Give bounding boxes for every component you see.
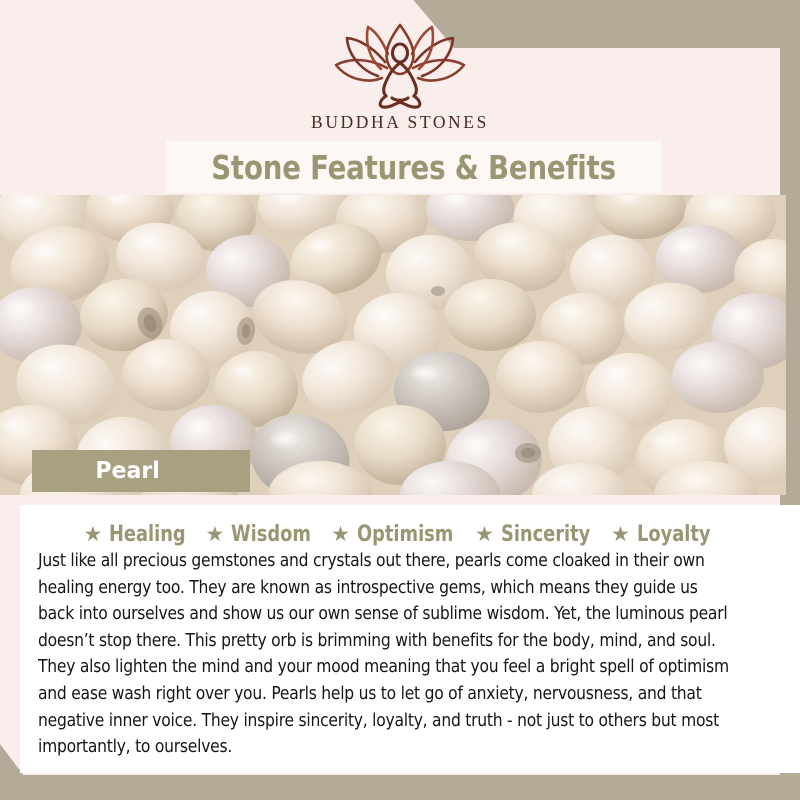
benefit-label: Loyalty — [637, 522, 710, 547]
benefit-label: Wisdom — [231, 522, 311, 547]
star-icon: ★ — [206, 524, 225, 545]
benefit-label: Optimism — [357, 522, 453, 547]
star-icon: ★ — [84, 524, 103, 545]
benefit-label: Sincerity — [501, 522, 590, 547]
benefit-item: ★ Optimism — [331, 522, 464, 547]
benefits-row: ★ Healing ★ Wisdom ★ Optimism ★ Sincerit… — [20, 517, 782, 551]
stone-name-label: Pearl — [95, 458, 160, 484]
stone-description: Just like all precious gemstones and cry… — [38, 548, 738, 761]
benefit-item: ★ Healing — [84, 522, 195, 547]
brand-wordmark: BUDDHA STONES — [311, 112, 489, 133]
benefit-item: ★ Wisdom — [206, 522, 321, 547]
benefit-item: ★ Loyalty — [611, 522, 718, 547]
brand-logo-block: BUDDHA STONES — [0, 22, 800, 133]
page-title: Stone Features & Benefits — [212, 148, 617, 187]
title-banner: Stone Features & Benefits — [166, 141, 662, 193]
stone-benefits-infographic: BUDDHA STONES Stone Features & Benefits — [0, 0, 800, 800]
star-icon: ★ — [611, 524, 630, 545]
star-icon: ★ — [331, 524, 350, 545]
stone-name-tab: Pearl — [32, 450, 250, 492]
benefit-item: ★ Sincerity — [475, 522, 600, 547]
benefit-label: Healing — [109, 522, 186, 547]
star-icon: ★ — [475, 524, 494, 545]
lotus-meditation-icon — [325, 22, 475, 110]
